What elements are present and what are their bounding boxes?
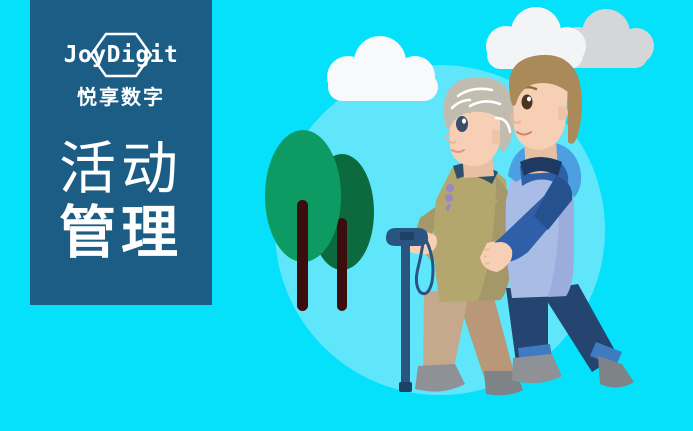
- page-title: 活动 管理: [59, 138, 183, 266]
- page-title-line-1: 活动: [59, 138, 183, 202]
- cane-shaft: [401, 244, 410, 386]
- elderly-woman-button: [446, 184, 454, 192]
- cane-tip: [399, 382, 412, 392]
- elderly-woman-button: [445, 194, 453, 202]
- brand-mark: JoyDigit: [41, 32, 201, 78]
- title-panel: JoyDigit 悦享数字 活动 管理: [30, 0, 212, 305]
- cane-handle-notch: [400, 232, 414, 240]
- young-man-eye-highlight: [527, 97, 531, 102]
- page-title-line-2: 管理: [59, 202, 183, 266]
- poster: JoyDigit 悦享数字 活动 管理: [0, 0, 693, 431]
- elderly-woman-eye: [456, 116, 468, 132]
- elderly-woman-eye-highlight: [462, 118, 466, 123]
- brand-block: JoyDigit 悦享数字: [41, 32, 201, 114]
- brand-wordmark: JoyDigit: [64, 44, 179, 67]
- brand-chinese-name: 悦享数字: [77, 87, 165, 107]
- young-man-eye: [522, 95, 533, 110]
